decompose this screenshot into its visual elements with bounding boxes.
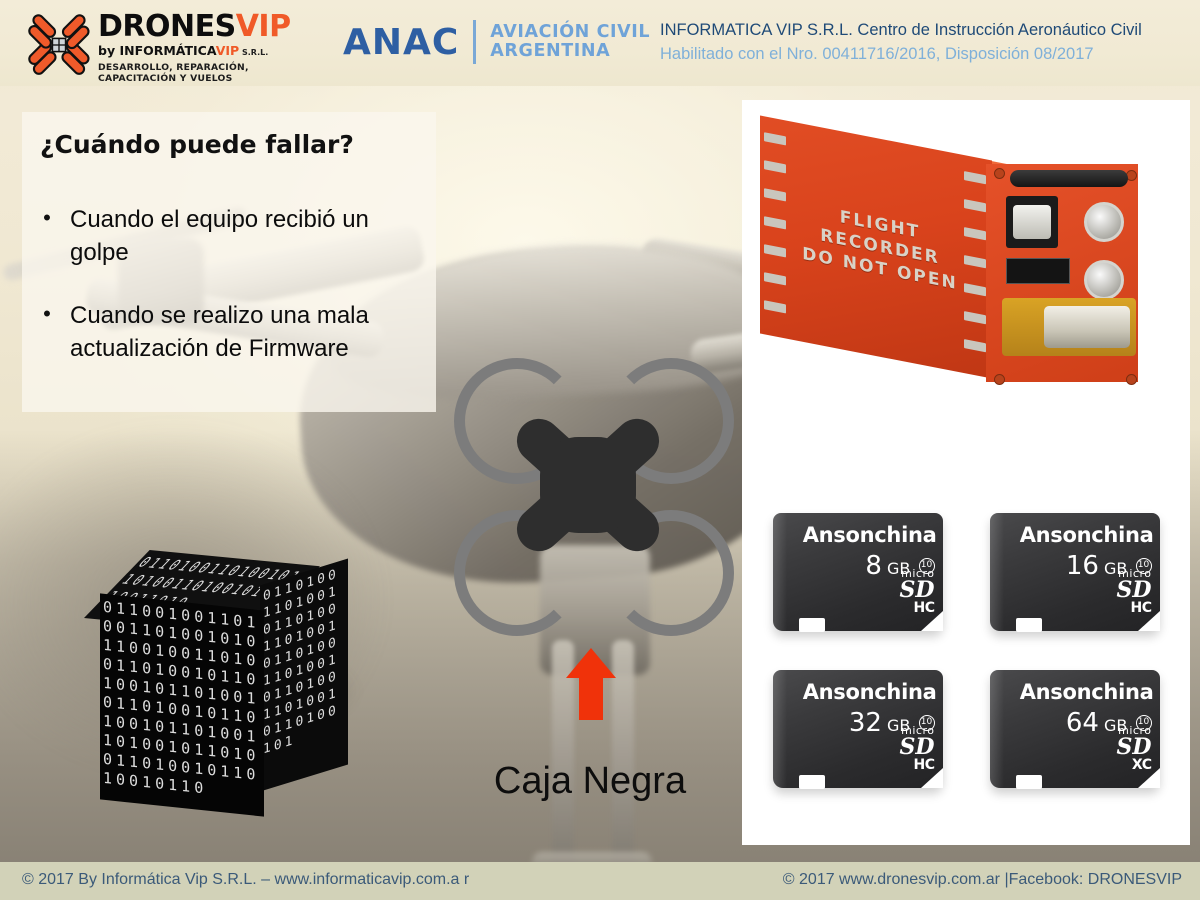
dronesvip-logo: DRONESVIP by INFORMÁTICAVIP S.R.L. DESAR… [26, 8, 326, 80]
illustration-panel: FLIGHT RECORDER DO NOT OPEN Ansonchina 8… [742, 100, 1190, 845]
sd-corner-cut [921, 768, 943, 788]
sd-brand: Ansonchina [773, 523, 937, 547]
recorder-connector-auxiliary [1084, 260, 1124, 300]
drone-frame-hub [540, 437, 636, 533]
drone-x-frame-icon [492, 396, 684, 574]
sd-corner-cut [1138, 768, 1160, 788]
anac-subtitle-line1: AVIACIÓN CIVIL [490, 23, 650, 42]
slide-canvas: DRONESVIP by INFORMÁTICAVIP S.R.L. DESAR… [0, 0, 1200, 900]
binary-data-cube: 0110100110100101101001101001011010011010… [28, 548, 320, 816]
cube-front-bits: 0110010011010011010010101100100110100110… [100, 593, 264, 808]
logo-wordmark: DRONESVIP by INFORMÁTICAVIP S.R.L. DESAR… [98, 12, 326, 84]
logo-brand-main: DRONES [98, 9, 236, 44]
institution-line2: Habilitado con el Nro. 00411716/2016, Di… [660, 42, 1190, 66]
microsd-card: Ansonchina 32 GB 10 micro SD HC [773, 670, 943, 788]
bullet-marker-icon: • [40, 203, 54, 269]
sd-family-logo: micro SD XC [1117, 725, 1152, 772]
sd-corner-cut [1138, 611, 1160, 631]
arrow-shaft [579, 674, 603, 720]
drone-quadcopter-icon [440, 350, 740, 650]
microsd-card: Ansonchina 16 GB 10 micro SD HC [990, 513, 1160, 631]
cube-side-bits: 0110100110100101101001101001011010011010… [260, 559, 348, 764]
sd-capacity-number: 32 [849, 708, 882, 738]
caja-negra-caption: Caja Negra [400, 760, 780, 803]
sd-logo-mark: SD [1117, 579, 1152, 601]
sd-corner-cut [921, 611, 943, 631]
red-up-arrow-icon [566, 648, 616, 720]
sd-family-logo: micro SD HC [1117, 568, 1152, 615]
footer-copyright-right: © 2017 www.dronesvip.com.ar |Facebook: D… [783, 871, 1182, 889]
content-text-panel: ¿Cuándo puede fallar? • Cuando el equipo… [22, 112, 436, 412]
list-item: • Cuando se realizo una mala actualizaci… [40, 299, 420, 365]
logo-tagline: DESARROLLO, REPARACIÓN, CAPACITACIÓN Y V… [98, 62, 326, 84]
microsd-card-grid: Ansonchina 8 GB 10 micro SD HC Ansonchin… [760, 500, 1172, 800]
sd-notch [799, 618, 825, 632]
institution-block: INFORMATICA VIP S.R.L. Centro de Instruc… [660, 18, 1190, 66]
sd-family-logo: micro SD HC [900, 568, 935, 615]
sd-capacity-number: 8 [865, 551, 882, 581]
sd-family-logo: micro SD HC [900, 725, 935, 772]
sd-capacity-number: 64 [1066, 708, 1099, 738]
anac-logo: ANAC AVIACIÓN CIVIL ARGENTINA [343, 20, 650, 64]
recorder-nameplate [1006, 258, 1070, 284]
recorder-gauge [1006, 196, 1058, 248]
sd-logo-mark: SD [1117, 736, 1152, 758]
sd-brand: Ansonchina [990, 523, 1154, 547]
cube-face-front: 0110010011010011010010101100100110100110… [100, 593, 264, 816]
bullet-list: • Cuando el equipo recibió un golpe • Cu… [40, 203, 420, 365]
slide-header: DRONESVIP by INFORMÁTICAVIP S.R.L. DESAR… [0, 0, 1200, 86]
sd-notch [1016, 775, 1042, 789]
underwater-locator-beacon [1002, 298, 1136, 356]
sd-brand: Ansonchina [773, 680, 937, 704]
footer-copyright-left: © 2017 By Informática Vip S.R.L. – www.i… [22, 871, 469, 889]
microsd-card: Ansonchina 64 GB 10 micro SD XC [990, 670, 1160, 788]
sd-logo-mark: SD [900, 736, 935, 758]
bullet-text: Cuando se realizo una mala actualización… [70, 299, 420, 365]
sd-logo-mark: SD [900, 579, 935, 601]
sd-capacity-number: 16 [1066, 551, 1099, 581]
logo-brand-accent: VIP [236, 9, 291, 44]
slide-footer: © 2017 By Informática Vip S.R.L. – www.i… [0, 862, 1200, 900]
anac-subtitle: AVIACIÓN CIVIL ARGENTINA [490, 23, 650, 61]
recorder-connector-primary [1084, 202, 1124, 242]
anac-wordmark: ANAC [343, 22, 459, 63]
anac-divider [473, 20, 476, 64]
bullet-marker-icon: • [40, 299, 54, 365]
microsd-card: Ansonchina 8 GB 10 micro SD HC [773, 513, 943, 631]
logo-byline-prefix: by [98, 43, 119, 58]
panel-title: ¿Cuándo puede fallar? [40, 130, 420, 159]
logo-byline-accent: VIP [216, 43, 240, 58]
cube-face-side: 0110100110100101101001101001011010011010… [260, 559, 348, 792]
flight-recorder-illustration: FLIGHT RECORDER DO NOT OPEN [754, 108, 1178, 408]
sd-brand: Ansonchina [990, 680, 1154, 704]
logo-byline-suffix: S.R.L. [239, 48, 268, 57]
recorder-handle [1010, 170, 1128, 187]
drone-rotor-logo-icon [26, 12, 92, 78]
anac-subtitle-line2: ARGENTINA [490, 42, 650, 61]
sd-notch [799, 775, 825, 789]
bullet-text: Cuando el equipo recibió un golpe [70, 203, 420, 269]
list-item: • Cuando el equipo recibió un golpe [40, 203, 420, 269]
institution-line1: INFORMATICA VIP S.R.L. Centro de Instruc… [660, 18, 1190, 42]
logo-byline-main: INFORMÁTICA [119, 43, 215, 58]
sd-notch [1016, 618, 1042, 632]
